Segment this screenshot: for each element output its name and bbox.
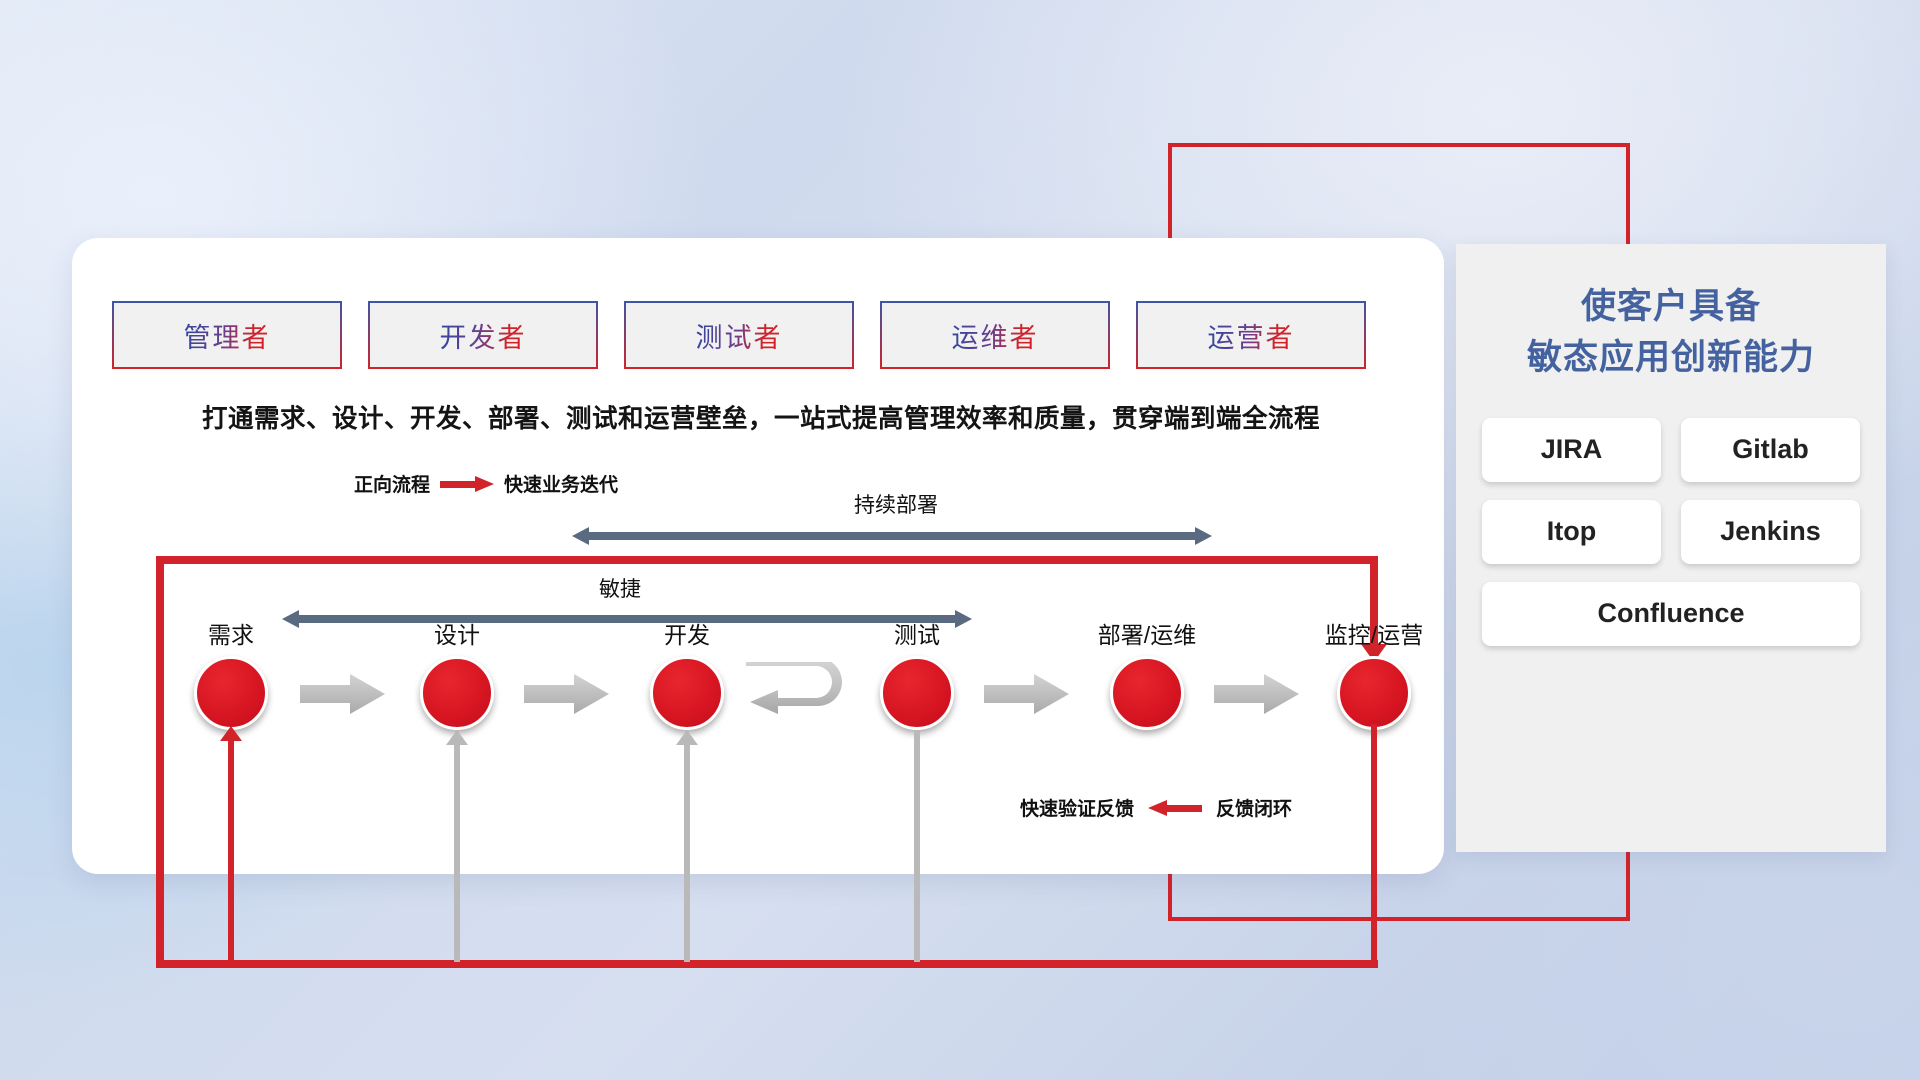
flow-node-dot [650, 656, 724, 730]
role-chip-row: 管理者 开发者 测试者 运维者 运营者 [112, 301, 1366, 369]
connector-frame-top [1168, 143, 1630, 147]
tool-tag-jenkins[interactable]: Jenkins [1681, 500, 1860, 564]
panel-title-line-1: 使客户具备 [1456, 282, 1886, 333]
flow-node-requirement[interactable]: 需求 [194, 656, 268, 730]
span-label-agile: 敏捷 [599, 573, 641, 603]
main-card: 管理者 开发者 测试者 运维者 运营者 打通需求、设计、开发、部署、测试和运营壁… [72, 238, 1444, 874]
flow-node-dot [1110, 656, 1184, 730]
flow-node-development[interactable]: 开发 [650, 656, 724, 730]
role-chip-label: 运营者 [1208, 316, 1295, 355]
feedback-arrowhead-design [446, 730, 468, 745]
process-loop-bottom-bar [156, 960, 1378, 968]
flow-node-label: 部署/运维 [1098, 616, 1196, 650]
feedback-stem-design [454, 734, 460, 962]
tool-tag-confluence[interactable]: Confluence [1482, 582, 1860, 646]
panel-title: 使客户具备 敏态应用创新能力 [1456, 244, 1886, 384]
legend-feedback-left-label: 快速验证反馈 [1020, 794, 1134, 821]
arrow-left-icon [1148, 800, 1202, 816]
tool-tag-list: JIRA Gitlab Itop Jenkins Confluence [1456, 384, 1886, 646]
role-chip-label: 开发者 [440, 316, 527, 355]
flow-node-label: 设计 [434, 616, 480, 650]
chevron-arrow-icon [524, 672, 610, 716]
flow-node-label: 监控/运营 [1325, 616, 1423, 650]
flow-node-dot [194, 656, 268, 730]
flow-node-dot [1337, 656, 1411, 730]
role-chip-label: 管理者 [184, 316, 271, 355]
legend-forward-right-label: 快速业务迭代 [504, 470, 618, 497]
feedback-stem-requirement [228, 730, 234, 962]
role-chip-label: 运维者 [952, 316, 1039, 355]
span-arrow-agile [282, 610, 972, 628]
feedback-arrowhead-requirement [220, 726, 242, 741]
legend-forward-flow: 正向流程 快速业务迭代 [354, 470, 618, 497]
role-chip-tester[interactable]: 测试者 [624, 301, 854, 369]
loop-stem-monitor [1371, 724, 1377, 964]
connector-frame-bottom [1168, 917, 1630, 921]
span-label-continuous-deploy: 持续部署 [854, 489, 938, 519]
value-panel: 使客户具备 敏态应用创新能力 JIRA Gitlab Itop Jenkins … [1456, 244, 1886, 852]
flow-node-label: 开发 [664, 616, 710, 650]
tool-tag-gitlab[interactable]: Gitlab [1681, 418, 1860, 482]
role-chip-developer[interactable]: 开发者 [368, 301, 598, 369]
chevron-arrow-icon [984, 672, 1070, 716]
connector-frame-left-stub [1168, 143, 1172, 243]
chevron-arrow-icon [300, 672, 386, 716]
process-loop-top-bar [156, 556, 1378, 564]
legend-feedback-loop: 快速验证反馈 反馈闭环 [1020, 794, 1292, 821]
feedback-stem-test [914, 730, 920, 962]
loopback-arrow-icon [744, 662, 852, 731]
role-chip-label: 测试者 [696, 316, 783, 355]
legend-feedback-right-label: 反馈闭环 [1216, 794, 1292, 821]
flow-node-dot [880, 656, 954, 730]
feedback-stem-development [684, 734, 690, 962]
feedback-arrowhead-development [676, 730, 698, 745]
tagline-text: 打通需求、设计、开发、部署、测试和运营壁垒，一站式提高管理效率和质量，贯穿端到端… [116, 398, 1406, 435]
process-loop-left-side [156, 556, 164, 968]
slide-canvas: 管理者 开发者 测试者 运维者 运营者 打通需求、设计、开发、部署、测试和运营壁… [0, 0, 1920, 1080]
span-arrow-continuous-deploy [572, 527, 1212, 545]
arrow-right-icon [440, 476, 494, 492]
flow-node-label: 测试 [894, 616, 940, 650]
flow-node-deploy-ops[interactable]: 部署/运维 [1110, 656, 1184, 730]
chevron-arrow-icon [1214, 672, 1300, 716]
role-chip-manager[interactable]: 管理者 [112, 301, 342, 369]
role-chip-operations[interactable]: 运营者 [1136, 301, 1366, 369]
flow-node-monitor-operations[interactable]: 监控/运营 [1337, 656, 1411, 730]
tool-tag-itop[interactable]: Itop [1482, 500, 1661, 564]
legend-forward-left-label: 正向流程 [354, 470, 430, 497]
flow-node-label: 需求 [208, 616, 254, 650]
flow-node-design[interactable]: 设计 [420, 656, 494, 730]
tool-tag-jira[interactable]: JIRA [1482, 418, 1661, 482]
flow-node-test[interactable]: 测试 [880, 656, 954, 730]
role-chip-ops[interactable]: 运维者 [880, 301, 1110, 369]
panel-title-line-2: 敏态应用创新能力 [1456, 333, 1886, 384]
flow-node-dot [420, 656, 494, 730]
